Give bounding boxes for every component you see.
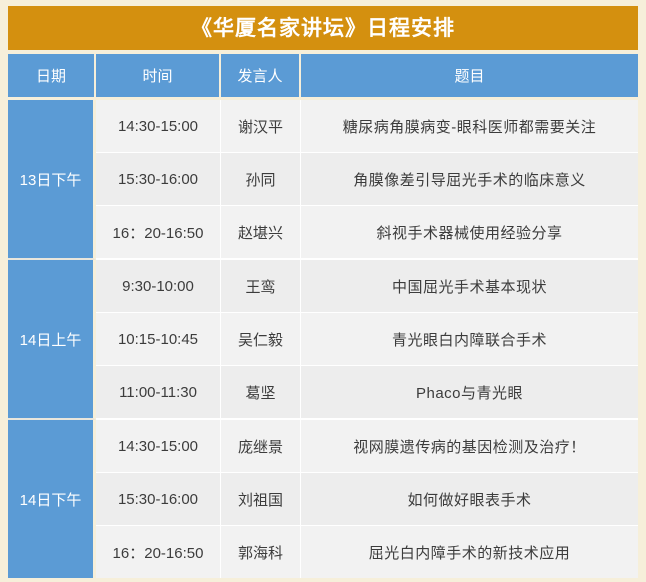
topic-cell: Phaco与青光眼 — [301, 366, 638, 420]
table-row: 11:00-11:30 葛坚 Phaco与青光眼 — [8, 366, 638, 420]
speaker-cell: 王鸾 — [221, 260, 301, 313]
topic-cell: 视网膜遗传病的基因检测及治疗！ — [301, 420, 638, 473]
date-group-cell: 14日下午 — [8, 420, 96, 578]
schedule-sheet: 《华厦名家讲坛》日程安排 日期 时间 发言人 题目 13日下午 14:30-15… — [0, 0, 646, 582]
time-cell: 9:30-10:00 — [96, 260, 221, 313]
column-header-topic: 题目 — [301, 54, 638, 100]
speaker-cell: 庞继景 — [221, 420, 301, 473]
table-row: 15:30-16:00 孙同 角膜像差引导屈光手术的临床意义 — [8, 153, 638, 206]
speaker-cell: 吴仁毅 — [221, 313, 301, 366]
speaker-cell: 谢汉平 — [221, 100, 301, 153]
time-cell: 15:30-16:00 — [96, 473, 221, 526]
speaker-cell: 赵堪兴 — [221, 206, 301, 260]
time-cell: 14:30-15:00 — [96, 100, 221, 153]
column-header-date: 日期 — [8, 54, 96, 100]
time-cell: 14:30-15:00 — [96, 420, 221, 473]
header-row: 日期 时间 发言人 题目 — [8, 54, 638, 100]
speaker-cell: 葛坚 — [221, 366, 301, 420]
schedule-table: 日期 时间 发言人 题目 13日下午 14:30-15:00 谢汉平 糖尿病角膜… — [8, 54, 638, 578]
topic-cell: 中国屈光手术基本现状 — [301, 260, 638, 313]
topic-cell: 如何做好眼表手术 — [301, 473, 638, 526]
topic-cell: 角膜像差引导屈光手术的临床意义 — [301, 153, 638, 206]
time-cell: 10:15-10:45 — [96, 313, 221, 366]
speaker-cell: 孙同 — [221, 153, 301, 206]
topic-cell: 青光眼白内障联合手术 — [301, 313, 638, 366]
topic-cell: 糖尿病角膜病变-眼科医师都需要关注 — [301, 100, 638, 153]
table-header: 日期 时间 发言人 题目 — [8, 54, 638, 100]
date-group-cell: 13日下午 — [8, 100, 96, 260]
time-cell: 15:30-16:00 — [96, 153, 221, 206]
column-header-time: 时间 — [96, 54, 221, 100]
time-cell: 16：20-16:50 — [96, 526, 221, 578]
topic-cell: 屈光白内障手术的新技术应用 — [301, 526, 638, 578]
table-row: 16：20-16:50 赵堪兴 斜视手术器械使用经验分享 — [8, 206, 638, 260]
table-row: 15:30-16:00 刘祖国 如何做好眼表手术 — [8, 473, 638, 526]
table-row: 13日下午 14:30-15:00 谢汉平 糖尿病角膜病变-眼科医师都需要关注 — [8, 100, 638, 153]
speaker-cell: 郭海科 — [221, 526, 301, 578]
topic-cell: 斜视手术器械使用经验分享 — [301, 206, 638, 260]
time-cell: 11:00-11:30 — [96, 366, 221, 420]
speaker-cell: 刘祖国 — [221, 473, 301, 526]
page-title: 《华厦名家讲坛》日程安排 — [191, 18, 455, 39]
table-row: 14日上午 9:30-10:00 王鸾 中国屈光手术基本现状 — [8, 260, 638, 313]
table-row: 10:15-10:45 吴仁毅 青光眼白内障联合手术 — [8, 313, 638, 366]
date-group-cell: 14日上午 — [8, 260, 96, 420]
column-header-speaker: 发言人 — [221, 54, 301, 100]
table-body: 13日下午 14:30-15:00 谢汉平 糖尿病角膜病变-眼科医师都需要关注 … — [8, 100, 638, 578]
title-banner: 《华厦名家讲坛》日程安排 — [8, 6, 638, 50]
table-row: 14日下午 14:30-15:00 庞继景 视网膜遗传病的基因检测及治疗！ — [8, 420, 638, 473]
table-row: 16：20-16:50 郭海科 屈光白内障手术的新技术应用 — [8, 526, 638, 578]
time-cell: 16：20-16:50 — [96, 206, 221, 260]
